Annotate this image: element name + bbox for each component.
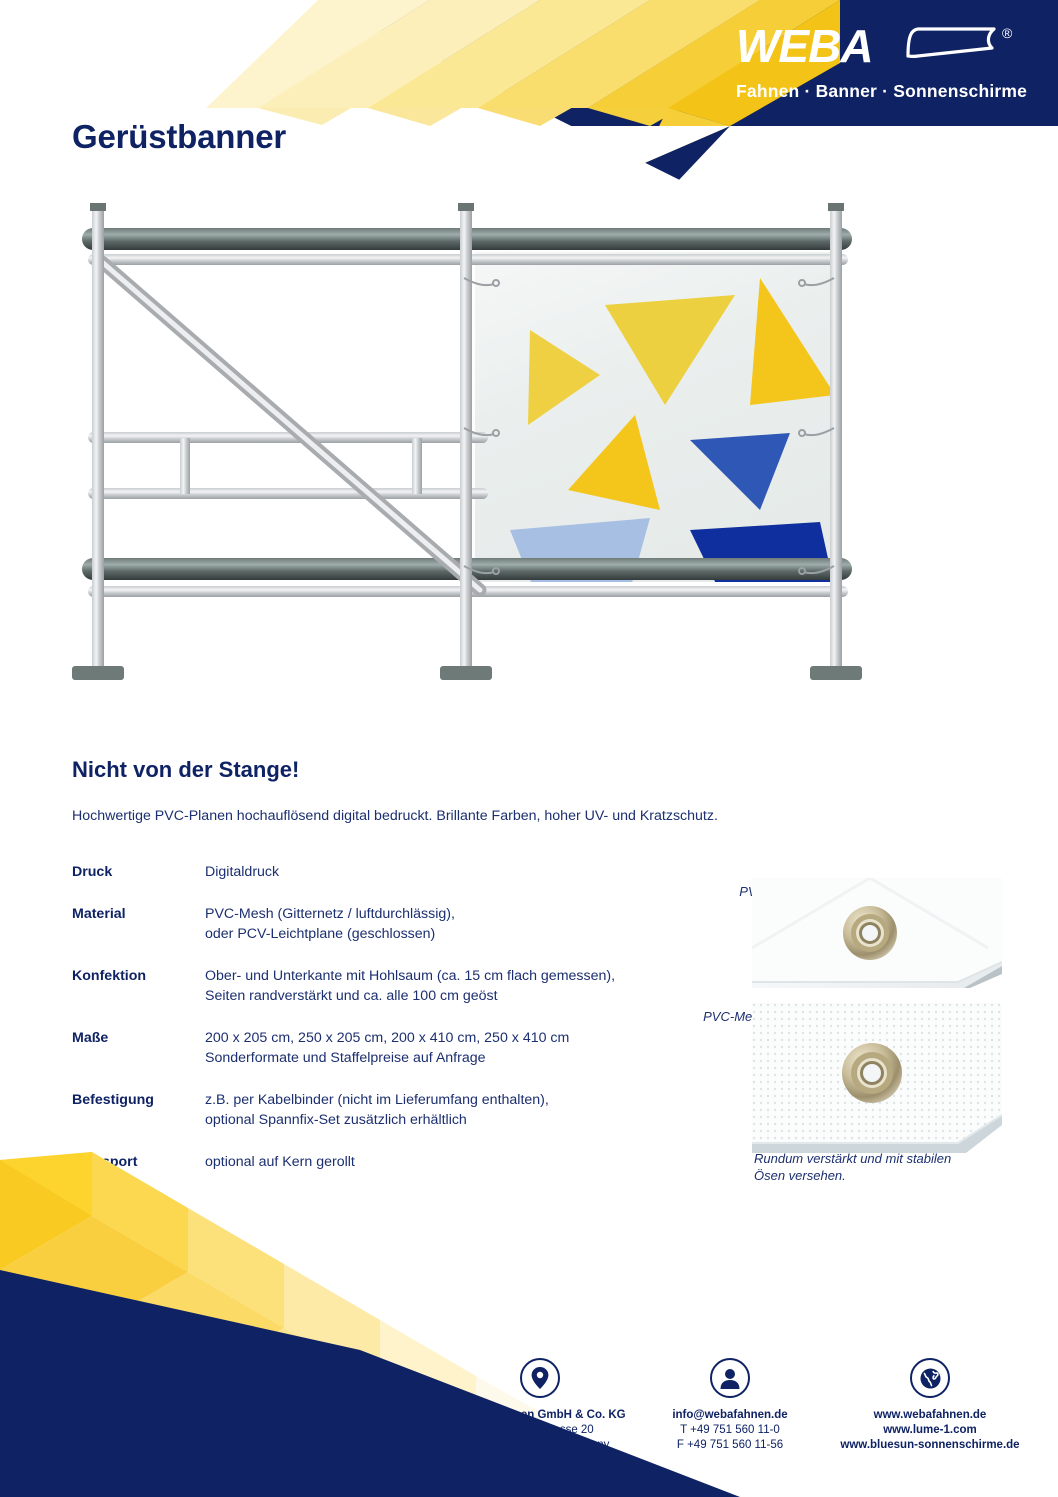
header-white-under-navy [660, 126, 1058, 200]
spec-value-line: Sonderformate und Staffelpreise auf Anfr… [205, 1048, 569, 1068]
strut-right [412, 438, 422, 494]
section-headline: Nicht von der Stange! [72, 757, 299, 783]
contact-line: T +49 751 560 11-0 [640, 1423, 820, 1438]
spec-label: Material [72, 904, 205, 944]
lightblue-triangle [510, 518, 650, 592]
spec-label: Druck [72, 862, 205, 882]
spec-value-line: 200 x 205 cm, 250 x 205 cm, 200 x 410 cm… [205, 1028, 569, 1048]
contact-line[interactable]: info@webafahnen.de [640, 1408, 820, 1423]
spec-value-line: Digitaldruck [205, 862, 279, 882]
contact-line: Eisenbahnstrasse 20 [440, 1423, 640, 1438]
contact-address: WEBA-Fahnen GmbH & Co. KG Eisenbahnstras… [440, 1358, 640, 1453]
scaffold-with-banner-graphic [60, 190, 890, 710]
rail-mid-upper [88, 432, 488, 443]
globe-icon [910, 1358, 950, 1398]
spec-value-line: z.B. per Kabelbinder (nicht im Lieferumf… [205, 1090, 549, 1110]
contact-websites: www.webafahnen.de www.lume-1.com www.blu… [820, 1358, 1040, 1453]
section-intro: Hochwertige PVC-Planen hochauflösend dig… [72, 808, 718, 824]
contact-line: 88255 Baienfurt - Germany [440, 1438, 640, 1453]
contact-line[interactable]: www.webafahnen.de [820, 1408, 1040, 1423]
material-samples: PVC [700, 878, 1020, 1173]
location-pin-icon [520, 1358, 560, 1398]
spec-value: Ober- und Unterkante mit Hohlsaum (ca. 1… [205, 966, 615, 1006]
contact-line: WEBA-Fahnen GmbH & Co. KG [440, 1408, 640, 1423]
spec-value: Digitaldruck [205, 862, 279, 882]
spec-value-line: optional Spannfix-Set zusätzlich erhältl… [205, 1110, 549, 1130]
contact-line[interactable]: www.bluesun-sonnenschirme.de [820, 1438, 1040, 1453]
brand-logo: WEBA ® Fahnen · Banner · Sonnenschirme [736, 18, 1026, 102]
spec-row-druck: Druck Digitaldruck [72, 862, 692, 882]
pvc-corner-grommet-icon [752, 878, 1002, 988]
contact-line: F +49 751 560 11-56 [640, 1438, 820, 1453]
page-title: Gerüstbanner [72, 118, 286, 156]
hero-product-image [60, 190, 890, 710]
spec-value: 200 x 205 cm, 250 x 205 cm, 200 x 410 cm… [205, 1028, 569, 1068]
weba-text: WEBA [736, 20, 873, 72]
spec-label: Maße [72, 1028, 205, 1068]
diagonal-brace [102, 262, 480, 590]
spec-row-befestigung: Befestigung z.B. per Kabelbinder (nicht … [72, 1090, 692, 1130]
flag-icon [908, 29, 994, 56]
person-icon [710, 1358, 750, 1398]
rail-mid-lower [88, 488, 488, 499]
contact-email-phone: info@webafahnen.de T +49 751 560 11-0 F … [640, 1358, 820, 1453]
spec-value-line: PVC-Mesh (Gitternetz / luftdurchlässig), [205, 904, 455, 924]
spec-value: PVC-Mesh (Gitternetz / luftdurchlässig),… [205, 904, 455, 944]
contact-line[interactable]: www.lume-1.com [820, 1423, 1040, 1438]
spec-value-line: Seiten randverstärkt und ca. alle 100 cm… [205, 986, 615, 1006]
spec-value-line: Ober- und Unterkante mit Hohlsaum (ca. 1… [205, 966, 615, 986]
spec-row-masse: Maße 200 x 205 cm, 250 x 205 cm, 200 x 4… [72, 1028, 692, 1068]
weba-wordmark-icon: WEBA ® [736, 18, 1026, 80]
brand-tagline: Fahnen · Banner · Sonnenschirme [736, 81, 1026, 102]
spec-value: z.B. per Kabelbinder (nicht im Lieferumf… [205, 1090, 549, 1130]
registered-mark: ® [1002, 25, 1013, 41]
sample-image-pvc [752, 878, 1002, 988]
spec-row-konfektion: Konfektion Ober- und Unterkante mit Hohl… [72, 966, 692, 1006]
spec-label: Konfektion [72, 966, 205, 1006]
strut-left [180, 438, 190, 494]
spec-row-material: Material PVC-Mesh (Gitternetz / luftdurc… [72, 904, 692, 944]
footer-contact-block: WEBA-Fahnen GmbH & Co. KG Eisenbahnstras… [440, 1358, 1040, 1453]
spec-value-line: oder PCV-Leichtplane (geschlossen) [205, 924, 455, 944]
sample-pvc: PVC [700, 878, 1020, 993]
spec-label: Befestigung [72, 1090, 205, 1130]
